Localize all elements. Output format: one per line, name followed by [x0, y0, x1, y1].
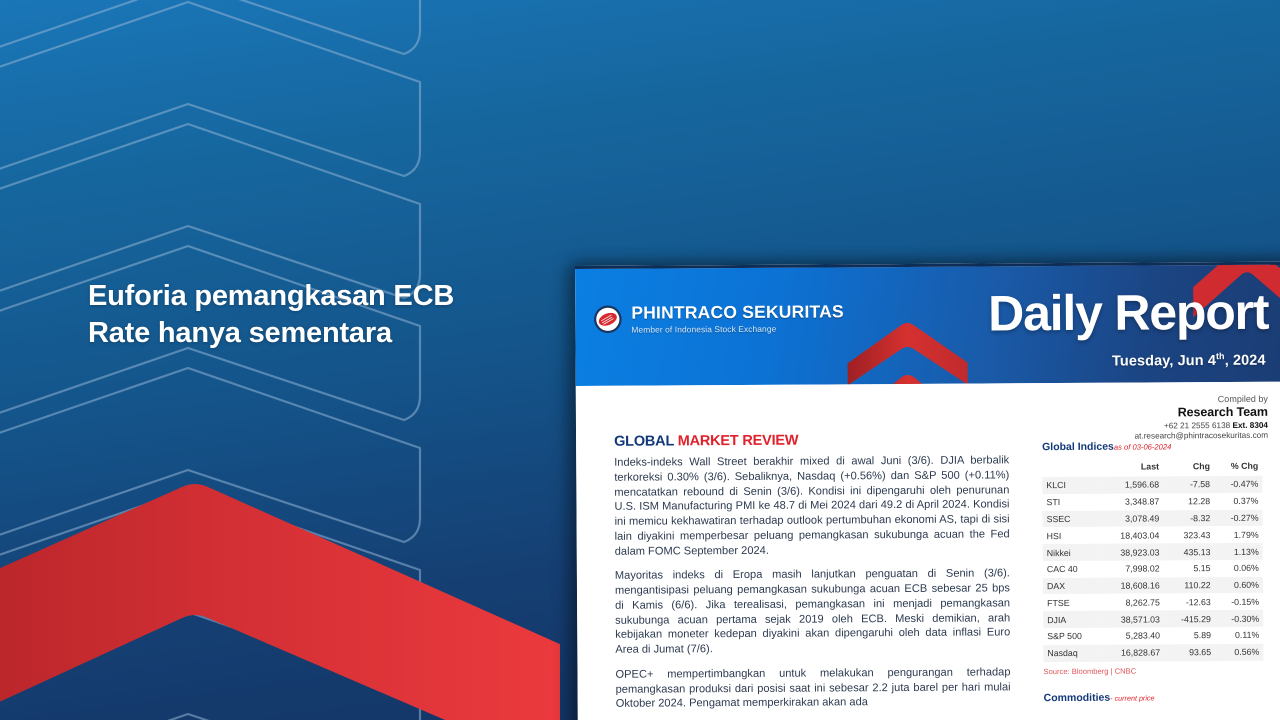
cell-chg: 323.43: [1163, 526, 1214, 543]
cell-last: 38,923.03: [1100, 544, 1164, 561]
cell-pct: 1.79%: [1214, 526, 1262, 543]
company-tagline: Member of Indonesia Stock Exchange: [631, 323, 844, 334]
table-row: DJIA38,571.03-415.29-0.30%: [1043, 610, 1263, 628]
report-date-ordinal: th: [1216, 351, 1225, 361]
global-indices-panel: Global Indicesas of 03-06-2024 Last Chg …: [1042, 440, 1264, 704]
cell-pct: -0.30%: [1215, 610, 1263, 627]
phone-extension: Ext. 8304: [1232, 421, 1268, 430]
compiled-by-label: Compiled by: [1134, 394, 1268, 405]
cell-name: S&P 500: [1043, 628, 1100, 645]
daily-report-document[interactable]: PHINTRACO SEKURITAS Member of Indonesia …: [575, 262, 1280, 720]
table-row: KLCI1,596.68-7.58-0.47%: [1042, 476, 1262, 494]
cell-chg: 110.22: [1164, 577, 1215, 594]
commodities-title: Commodities- current price: [1044, 690, 1264, 703]
cell-chg: -415.29: [1164, 610, 1215, 627]
review-paragraph: Indeks-indeks Wall Street berakhir mixed…: [614, 453, 1010, 559]
cell-chg: 93.65: [1164, 644, 1215, 661]
table-row: S&P 5005,283.405.890.11%: [1043, 627, 1263, 645]
cell-name: FTSE: [1043, 594, 1100, 611]
global-indices-table: Last Chg % Chg KLCI1,596.68-7.58-0.47%ST…: [1042, 459, 1263, 662]
cell-chg: 12.28: [1163, 493, 1214, 510]
table-row: FTSE8,262.75-12.63-0.15%: [1043, 593, 1263, 611]
table-row: DAX18,608.16110.220.60%: [1043, 576, 1263, 594]
cell-chg: 5.89: [1164, 627, 1215, 644]
slide-title: Euforia pemangkasan ECB Rate hanya semen…: [88, 278, 488, 352]
report-date: Tuesday, Jun 4th, 2024: [1112, 351, 1266, 370]
section-heading-secondary: MARKET REVIEW: [678, 433, 799, 450]
indices-title-text: Global Indices: [1042, 441, 1114, 453]
cell-chg: -12.63: [1164, 594, 1215, 611]
company-name: PHINTRACO SEKURITAS: [631, 303, 844, 322]
report-body: Compiled by Research Team +62 21 2555 61…: [576, 382, 1280, 720]
cell-last: 8,262.75: [1100, 594, 1164, 611]
cell-last: 38,571.03: [1100, 611, 1164, 628]
cell-name: Nasdaq: [1043, 645, 1100, 662]
cell-pct: 0.06%: [1215, 560, 1263, 577]
table-row: Nasdaq16,828.6793.650.56%: [1043, 644, 1263, 662]
compiled-by-block: Compiled by Research Team +62 21 2555 61…: [1134, 394, 1268, 441]
col-last: Last: [1100, 459, 1164, 476]
compiled-by-phone: +62 21 2555 6138 Ext. 8304: [1134, 421, 1268, 431]
review-paragraph: OPEC+ mempertimbangkan untuk melakukan p…: [615, 665, 1010, 712]
cell-last: 16,828.67: [1101, 644, 1165, 661]
col-name: [1042, 460, 1099, 477]
commodities-title-text: Commodities: [1044, 691, 1111, 703]
slide-background: Euforia pemangkasan ECB Rate hanya semen…: [0, 0, 1280, 720]
review-paragraph: Mayoritas indeks di Eropa masih lanjutka…: [615, 567, 1011, 658]
market-review-column: GLOBAL MARKET REVIEW Indeks-indeks Wall …: [614, 431, 1011, 720]
compiled-by-team: Research Team: [1134, 405, 1268, 420]
indices-source: Source: Bloomberg | CNBC: [1043, 665, 1263, 675]
cell-chg: 435.13: [1163, 543, 1214, 560]
cell-pct: 0.60%: [1215, 576, 1263, 593]
cell-last: 1,596.68: [1100, 476, 1164, 493]
company-logo: PHINTRACO SEKURITAS Member of Indonesia …: [593, 303, 844, 334]
cell-pct: 1.13%: [1214, 543, 1262, 560]
cell-last: 7,998.02: [1100, 560, 1164, 577]
cell-chg: -8.32: [1163, 510, 1214, 527]
cell-last: 3,078.49: [1100, 510, 1164, 527]
table-row: HSI18,403.04323.431.79%: [1043, 526, 1263, 544]
section-heading: GLOBAL MARKET REVIEW: [614, 431, 1009, 449]
cell-name: HSI: [1043, 527, 1100, 544]
table-row: STI3,348.8712.280.37%: [1042, 493, 1262, 511]
commodities-subtitle: - current price: [1110, 693, 1154, 702]
cell-name: STI: [1042, 494, 1099, 511]
cell-last: 5,283.40: [1101, 627, 1165, 644]
cell-pct: -0.27%: [1214, 509, 1262, 526]
cell-last: 18,403.04: [1100, 527, 1164, 544]
section-heading-primary: GLOBAL: [614, 433, 674, 449]
cell-name: DJIA: [1043, 611, 1100, 628]
cell-last: 3,348.87: [1100, 493, 1164, 510]
table-row: CAC 407,998.025.150.06%: [1043, 560, 1263, 578]
cell-pct: -0.47%: [1214, 476, 1262, 493]
cell-last: 18,608.16: [1100, 577, 1164, 594]
banner-chevron-icons: [843, 319, 984, 386]
table-header-row: Last Chg % Chg: [1042, 459, 1262, 477]
table-body: KLCI1,596.68-7.58-0.47%STI3,348.8712.280…: [1042, 476, 1263, 662]
col-pct-chg: % Chg: [1214, 459, 1262, 476]
report-date-prefix: Tuesday, Jun 4: [1112, 353, 1216, 370]
report-date-suffix: , 2024: [1225, 353, 1266, 369]
table-row: SSEC3,078.49-8.32-0.27%: [1043, 509, 1263, 527]
cell-pct: -0.15%: [1215, 593, 1263, 610]
table-row: Nikkei38,923.03435.131.13%: [1043, 543, 1263, 561]
report-banner: PHINTRACO SEKURITAS Member of Indonesia …: [575, 262, 1280, 386]
cell-pct: 0.56%: [1215, 644, 1263, 661]
phone-number: +62 21 2555 6138: [1164, 421, 1230, 430]
cell-pct: 0.11%: [1215, 627, 1263, 644]
cell-name: CAC 40: [1043, 561, 1100, 578]
cell-name: KLCI: [1042, 477, 1099, 494]
indices-as-of: as of 03-06-2024: [1114, 442, 1171, 451]
cell-chg: 5.15: [1164, 560, 1215, 577]
cell-chg: -7.58: [1163, 476, 1214, 493]
red-chevron-accent: [0, 440, 560, 720]
cell-name: Nikkei: [1043, 544, 1100, 561]
cell-pct: 0.37%: [1214, 493, 1262, 510]
cell-name: SSEC: [1043, 510, 1100, 527]
phintraco-logo-icon: [593, 305, 622, 334]
report-title: Daily Report: [988, 287, 1268, 339]
col-chg: Chg: [1163, 459, 1214, 476]
global-indices-title: Global Indicesas of 03-06-2024: [1042, 440, 1262, 453]
cell-name: DAX: [1043, 577, 1100, 594]
